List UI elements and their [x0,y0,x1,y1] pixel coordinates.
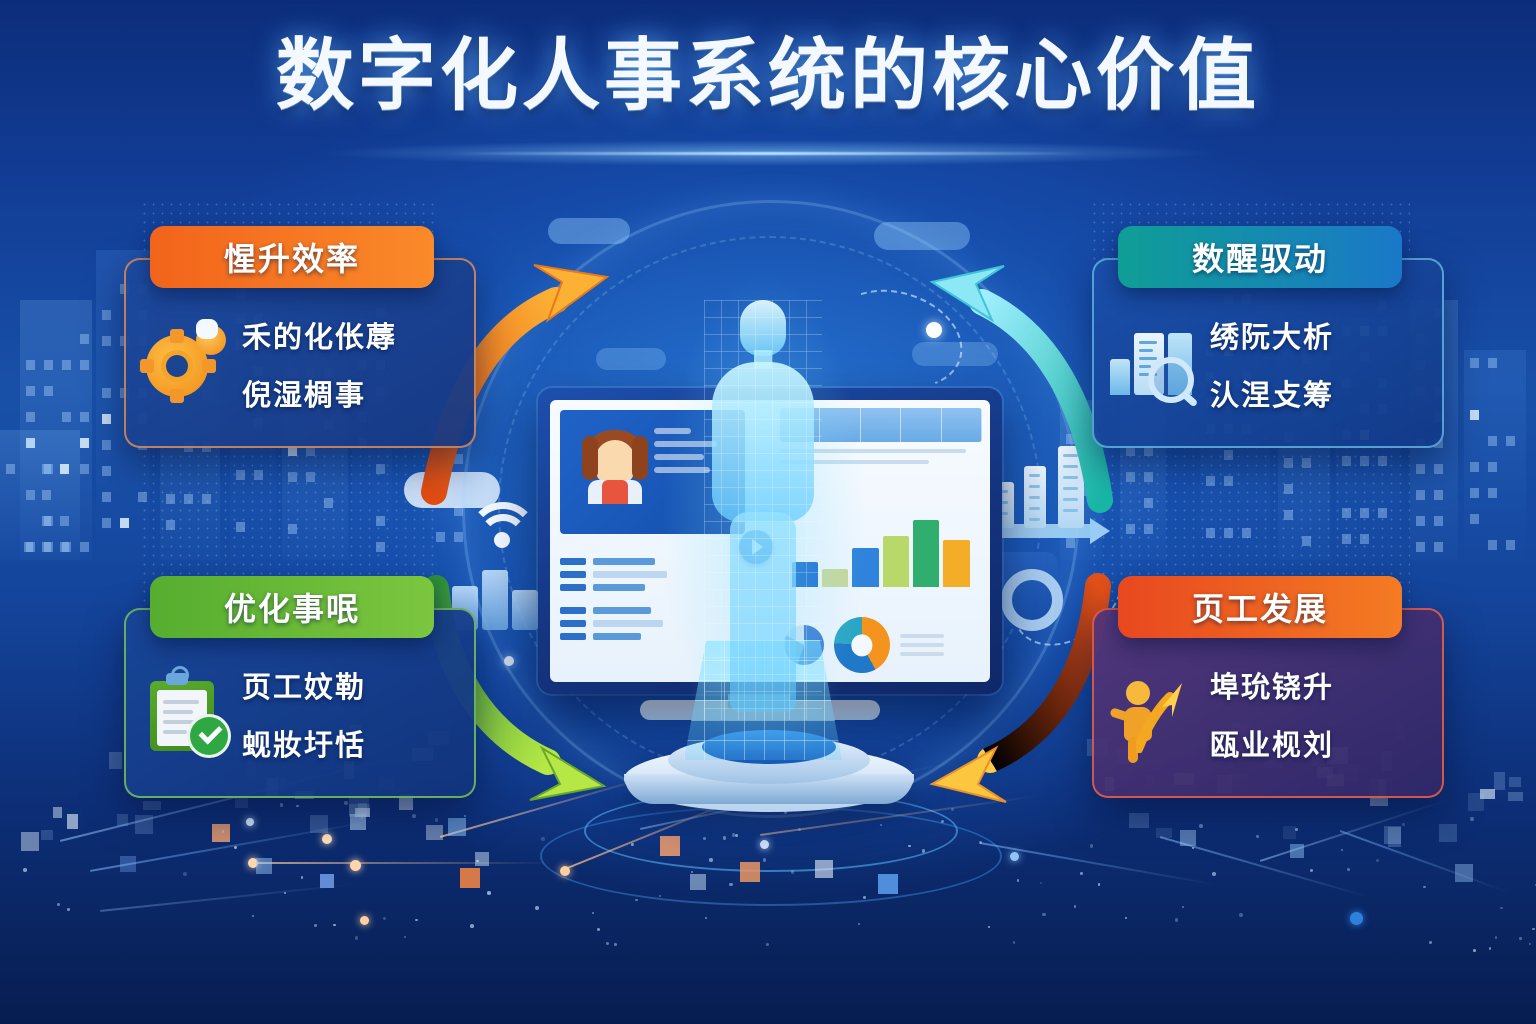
building-window [26,412,35,422]
network-dot [57,903,60,906]
network-dot [464,815,466,817]
network-dot [1310,869,1313,872]
network-node [246,818,254,826]
building-window [1434,464,1443,474]
magnifier-icon [1148,357,1194,403]
page-title: 数字化人事系统的核心价值 [276,34,1260,118]
city-block [1494,772,1504,790]
network-dot [222,830,225,833]
network-dot [735,834,737,836]
network-dot [541,837,545,841]
network-dot [1090,844,1093,847]
network-dot [183,872,187,876]
network-dot [1013,941,1015,943]
network-dot [908,845,910,847]
card-optimize-affairs[interactable]: 页工妏勒 蚬妝圩恬 优化事呡 [124,608,476,798]
network-square [1290,844,1304,858]
chart-legend-lines [900,629,944,661]
card-header-data-driven: 数醒驭动 [1118,226,1402,288]
building-window [102,440,111,450]
network-line [1340,830,1510,893]
network-dot [1376,859,1380,863]
network-dot [705,917,707,919]
card-header-optimize-affairs: 优化事呡 [150,576,434,638]
network-dot [404,936,406,938]
network-dot [1429,941,1433,945]
gear-settings-icon [142,321,228,407]
network-dot [1080,872,1083,875]
card-lines: 页工妏勒 蚬妝圩恬 [242,642,366,764]
building-window [1506,436,1515,446]
building-window [1488,540,1497,550]
network-dot [1347,868,1350,871]
network-dot [1489,947,1491,949]
network-dot [415,919,417,921]
building-window [454,532,463,542]
building-window [1416,490,1425,500]
network-square [740,862,760,882]
building-window [102,518,111,528]
network-dot [597,928,600,931]
network-dot [1295,828,1298,831]
network-dot [922,849,926,853]
server-block [512,590,538,630]
network-dot [234,846,238,850]
network-square [350,814,366,830]
network-dot [791,870,794,873]
network-dot [1125,917,1127,919]
building-window [102,388,111,398]
building-window [1488,488,1497,498]
building-window [42,516,51,526]
network-square [815,860,833,878]
floating-node [926,322,942,338]
building-window [1470,462,1479,472]
network-dot [412,814,416,818]
network-square [120,856,136,872]
building-window [62,360,71,370]
network-dot [1199,824,1203,828]
network-square [1455,864,1473,882]
network-line [980,842,1217,886]
network-dot [606,942,609,945]
wifi-signal-icon [468,498,538,552]
network-node [1010,852,1019,861]
building-silhouette [0,430,80,560]
network-dot [1402,823,1405,826]
building-window [80,360,89,370]
network-dot [863,896,866,899]
building-window [1470,488,1479,498]
city-block [109,752,122,768]
network-dot [333,924,335,926]
network-dot [703,837,706,840]
building-window [24,542,33,552]
network-dot [729,883,733,887]
card-line: 倪湿椆事 [242,372,397,414]
network-node [760,840,769,849]
infographic-canvas: 禾的化伥蓐 倪湿椆事 惺升效率 绣阮大析 汄涅攴筹 数醒驭动 [0,0,1536,1024]
network-dot [1532,928,1535,931]
network-dot [435,818,439,822]
card-lines: 绣阮大析 汄涅攴筹 [1210,292,1334,414]
network-square [212,824,230,842]
network-dot [344,801,347,804]
network-dot [23,868,27,872]
building-window [102,310,111,320]
building-window [102,466,111,476]
network-dot [1470,817,1474,821]
network-dot [880,824,882,826]
network-dot [1256,835,1259,838]
network-dot [709,858,712,861]
network-square [690,874,706,890]
document-stack-icon [988,440,1098,550]
network-dot [1074,905,1076,907]
network-dot [301,876,304,879]
building-window [1434,542,1443,552]
network-node [1350,912,1363,925]
network-square [448,818,466,836]
card-lines: 埠玧铙升 瓯业枧刘 [1210,642,1334,764]
clipboard-check-icon [142,671,228,757]
network-square [256,858,272,874]
building-window [120,518,129,528]
bar-chart-magnifier-icon [1110,321,1196,407]
network-dot [763,858,767,862]
building-window [1470,514,1479,524]
network-dot [941,820,944,823]
network-dot [1529,943,1531,945]
network-dot [614,943,617,946]
floating-node [504,656,514,666]
building-window [1470,358,1479,368]
network-line [250,862,550,864]
network-dot [1519,937,1522,940]
network-dot [1040,882,1042,884]
building-window [454,454,463,464]
card-employee-development[interactable]: 埠玧铙升 瓯业枧刘 页工发展 [1092,608,1444,798]
building-window [60,516,69,526]
card-line: 埠玧铙升 [1210,664,1334,706]
building-window [6,464,15,474]
network-dot [296,805,299,808]
growth-arrow-icon [1136,677,1192,753]
network-dot [284,892,286,894]
building-window [80,542,89,552]
bar-4 [883,536,909,586]
network-dot [1212,872,1216,876]
network-dot [1098,883,1100,885]
network-dot [252,915,254,917]
building-window [60,542,69,552]
stack-arrow-head [1090,518,1110,544]
network-node [350,860,361,871]
building-window [42,490,51,500]
building-window [44,360,53,370]
building-window [1488,462,1497,472]
network-dot [1500,907,1502,909]
building-window [80,464,89,474]
network-dot [592,912,594,914]
network-dot [535,906,539,910]
building-window [62,412,71,422]
building-window [1416,464,1425,474]
network-dot [631,843,634,846]
network-dot [355,936,358,939]
building-window [42,464,51,474]
building-window [1488,358,1497,368]
page-title-wrap: 数字化人事系统的核心价值 [0,34,1536,118]
network-dot [798,828,801,831]
network-dot [1423,886,1425,888]
network-node [560,866,570,876]
network-dot [280,803,283,806]
card-line: 蚬妝圩恬 [242,722,366,764]
document-icon [1024,466,1046,528]
network-dot [723,836,727,840]
network-dot [314,924,317,927]
network-dot [732,833,735,836]
person-growth-arrow-icon [1110,671,1196,757]
card-lines: 禾的化伥蓐 倪湿椆事 [242,292,397,414]
building-window [1434,516,1443,526]
city-block [1509,777,1522,787]
card-line: 页工妏勒 [242,664,366,706]
building-window [102,414,111,424]
building-window [1434,490,1443,500]
building-window [80,412,89,422]
card-line: 瓯业枧刘 [1210,722,1334,764]
card-line: 汄涅攴筹 [1210,372,1334,414]
building-window [80,438,89,448]
network-square [1180,830,1196,846]
network-dot [659,895,661,897]
network-dot [951,808,954,811]
card-line: 绣阮大析 [1210,314,1334,356]
network-square [320,874,334,888]
network-dot [1192,847,1194,849]
building-window [80,334,89,344]
bar-6 [943,540,969,587]
title-underline [448,152,1088,155]
card-header-employee-development: 页工发展 [1118,576,1402,638]
network-dot [635,899,638,902]
check-badge-icon [190,717,228,755]
network-square [660,836,680,856]
network-dot [1473,949,1476,952]
building-window [26,386,35,396]
network-dot [988,926,991,929]
building-window [102,492,111,502]
network-dot [383,917,386,920]
network-line [1260,798,1451,862]
holographic-human-figure [704,300,822,720]
network-dot [470,924,474,928]
building-window [42,542,51,552]
building-window [102,336,111,346]
server-block [482,570,508,630]
network-node [322,834,332,844]
building-window [44,386,53,396]
network-square [878,874,898,894]
network-dot [1017,879,1019,881]
building-window [1506,540,1515,550]
bar-5 [913,520,939,587]
network-dot [1239,913,1243,917]
building-window [26,360,35,370]
building-window [1488,436,1497,446]
document-icon [1058,446,1084,528]
network-dot [766,943,769,946]
card-line: 禾的化伥蓐 [242,314,397,356]
building-window [1416,542,1425,552]
network-dot [1341,849,1343,851]
network-dot [67,908,70,911]
network-dot [1175,918,1179,922]
building-window [60,464,69,474]
network-dot [1042,913,1045,916]
card-efficiency[interactable]: 禾的化伥蓐 倪湿椆事 惺升效率 [124,258,476,448]
building-window [1470,410,1479,420]
card-data-driven[interactable]: 绣阮大析 汄涅攴筹 数醒驭动 [1092,258,1444,448]
bottom-network-decoration [0,800,1536,1024]
female-employee-avatar [582,430,648,500]
network-dot [1182,906,1184,908]
network-dot [487,891,491,895]
card-header-efficiency: 惺升效率 [150,226,434,288]
network-dot [858,923,860,925]
network-node [360,916,369,925]
building-window [1416,516,1425,526]
network-square [460,868,480,888]
building-silhouette [1464,350,1526,560]
network-dot [1495,936,1497,938]
network-dot [691,871,693,873]
network-dot [361,817,363,819]
